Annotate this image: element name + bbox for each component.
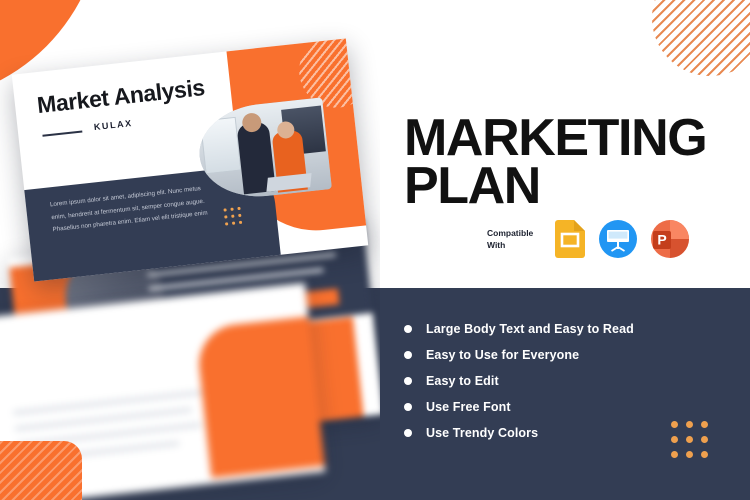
compatible-with-section: Compatible With — [487, 220, 689, 258]
compatible-with-label: Compatible With — [487, 227, 539, 252]
front-slide-subtitle: KULAX — [93, 118, 133, 132]
background-slide-lower-orange — [195, 314, 325, 478]
feature-label: Easy to Use for Everyone — [426, 348, 579, 362]
front-slide-dot-grid — [223, 207, 243, 227]
feature-label: Large Body Text and Easy to Read — [426, 322, 634, 336]
page-title: MARKETING PLAN — [404, 115, 734, 211]
front-slide-photo — [195, 97, 332, 202]
feature-label: Use Trendy Colors — [426, 426, 538, 440]
feature-label: Easy to Edit — [426, 374, 499, 388]
list-item: Use Free Font — [404, 394, 634, 420]
list-item: Large Body Text and Easy to Read — [404, 316, 634, 342]
bullet-dot-icon — [404, 403, 412, 411]
compatible-with-label-line-2: With — [487, 240, 505, 250]
front-slide[interactable]: Market Analysis KULAX Lorem ipsum dolor … — [12, 38, 368, 281]
bullet-dot-icon — [404, 377, 412, 385]
bullet-dot-icon — [404, 325, 412, 333]
powerpoint-icon[interactable]: P — [651, 220, 689, 258]
bullet-dot-icon — [404, 351, 412, 359]
slide-preview-region: Market Analysis KULAX Lorem ipsum dolor … — [0, 0, 380, 500]
dot-grid-icon — [671, 421, 708, 458]
bullet-dot-icon — [404, 429, 412, 437]
compatible-with-label-line-1: Compatible — [487, 228, 533, 238]
svg-text:P: P — [657, 232, 666, 248]
google-slides-icon[interactable] — [555, 220, 585, 258]
list-item: Easy to Use for Everyone — [404, 342, 634, 368]
page-title-line-2: PLAN — [404, 163, 734, 211]
compatible-icon-row: P — [555, 220, 689, 258]
front-slide-rule — [42, 130, 82, 136]
list-item: Use Trendy Colors — [404, 420, 634, 446]
front-slide-title: Market Analysis — [36, 74, 206, 119]
keynote-icon[interactable] — [599, 220, 637, 258]
slide-deck: Market Analysis KULAX Lorem ipsum dolor … — [0, 0, 380, 500]
promo-canvas: Market Analysis KULAX Lorem ipsum dolor … — [0, 0, 750, 500]
feature-label: Use Free Font — [426, 400, 511, 414]
list-item: Easy to Edit — [404, 368, 634, 394]
feature-list: Large Body Text and Easy to Read Easy to… — [404, 316, 634, 446]
corner-block-bottom-left-icon — [0, 441, 82, 500]
